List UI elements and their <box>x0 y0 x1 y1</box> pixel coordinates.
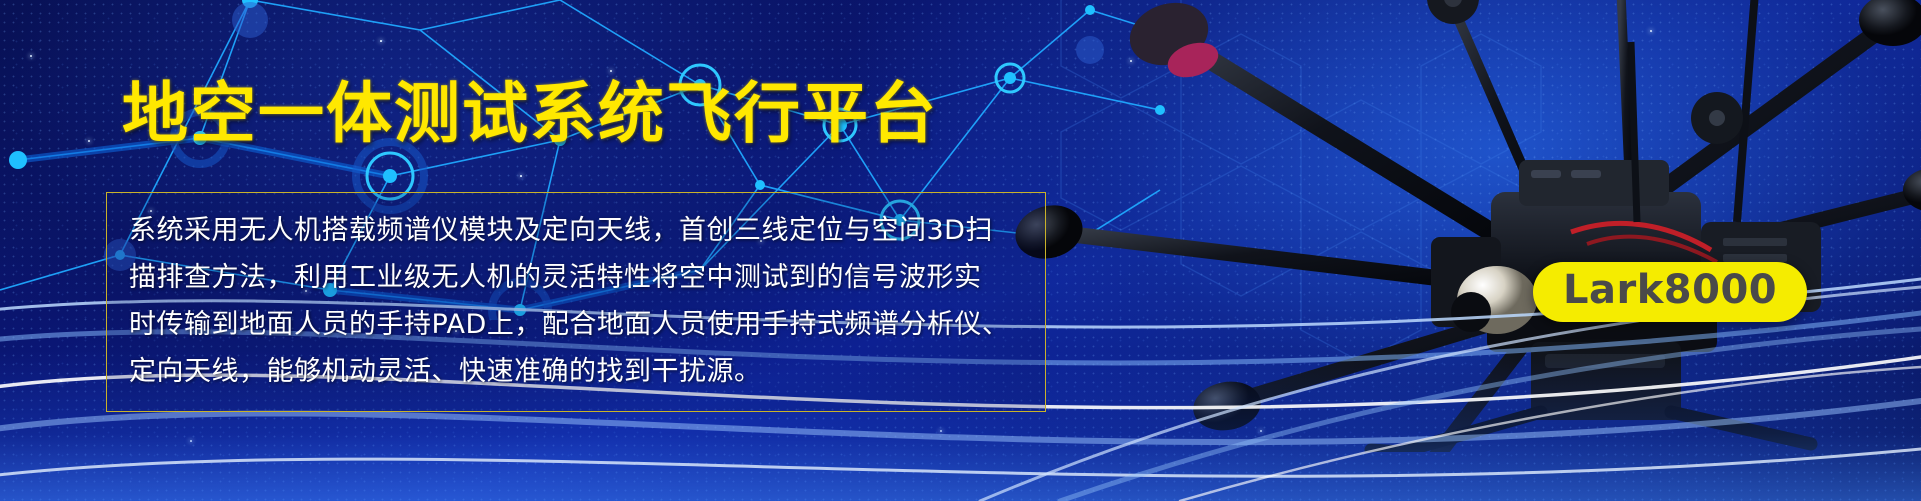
promo-banner: 地空一体测试系统飞行平台 系统采用无人机搭载频谱仪模块及定向天线，首创三线定位与… <box>0 0 1921 501</box>
drone-photo <box>931 0 1921 452</box>
description-box: 系统采用无人机搭载频谱仪模块及定向天线，首创三线定位与空间3D扫 描排查方法，利… <box>106 192 1046 412</box>
description-line-1: 系统采用无人机搭载频谱仪模块及定向天线，首创三线定位与空间3D扫 <box>129 207 1023 254</box>
page-title: 地空一体测试系统飞行平台 <box>122 78 938 150</box>
description-line-2: 描排查方法，利用工业级无人机的灵活特性将空中测试到的信号波形实 <box>129 254 1023 301</box>
description-line-4: 定向天线，能够机动灵活、快速准确的找到干扰源。 <box>129 348 1023 395</box>
description-line-3: 时传输到地面人员的手持PAD上，配合地面人员使用手持式频谱分析仪、 <box>129 301 1023 348</box>
product-badge: Lark8000 <box>1533 262 1807 322</box>
